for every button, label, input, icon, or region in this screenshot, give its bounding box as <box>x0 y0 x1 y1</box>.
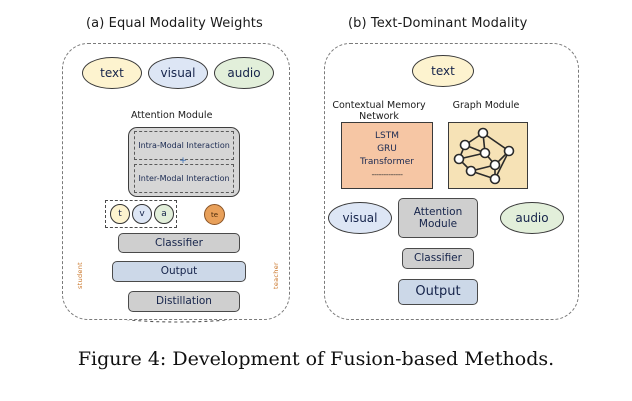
student-label: student <box>76 262 84 289</box>
panel-a-title: (a) Equal Modality Weights <box>86 16 263 31</box>
inter-modal-interaction-box: Inter-Modal Interaction <box>134 164 234 193</box>
teacher-label: teacher <box>272 262 280 289</box>
figure-root: (a) Equal Modality Weights (b) Text-Domi… <box>0 0 632 401</box>
classifier-box-a: Classifier <box>118 233 240 253</box>
graph-module-label: Graph Module <box>442 100 530 111</box>
classifier-box-b: Classifier <box>402 248 474 269</box>
mini-node-audio[interactable]: a <box>154 204 174 224</box>
mini-node-visual[interactable]: v <box>132 204 152 224</box>
cmn-item-lstm: LSTM <box>375 130 399 143</box>
panel-b-title: (b) Text-Dominant Modality <box>348 16 527 31</box>
output-box-b: Output <box>398 279 478 305</box>
contextual-memory-network-label: Contextual Memory Network <box>330 100 428 123</box>
modality-audio-node[interactable]: audio <box>214 57 274 89</box>
distillation-box: Distillation <box>128 291 240 312</box>
cmn-ellipsis: ------------- <box>371 169 402 181</box>
graph-network-icon <box>449 123 527 188</box>
cmn-item-gru: GRU <box>377 143 397 156</box>
graph-module-box <box>448 122 528 189</box>
contextual-memory-network-box: LSTM GRU Transformer ------------- <box>341 122 433 189</box>
attention-module-label-a: Attention Module <box>131 110 212 121</box>
output-box-a: Output <box>112 261 246 282</box>
attention-module-box-b: Attention Module <box>398 198 478 238</box>
audio-modality-node-b[interactable]: audio <box>500 202 564 234</box>
mini-node-text[interactable]: t <box>110 204 130 224</box>
modality-text-node[interactable]: text <box>82 57 142 89</box>
cmn-item-transformer: Transformer <box>360 156 414 169</box>
visual-modality-node-b[interactable]: visual <box>328 202 392 234</box>
text-modality-node-b[interactable]: text <box>412 55 474 87</box>
mini-node-teacher[interactable]: te <box>204 204 225 225</box>
figure-caption: Figure 4: Development of Fusion-based Me… <box>0 348 632 370</box>
modality-visual-node[interactable]: visual <box>148 57 208 89</box>
